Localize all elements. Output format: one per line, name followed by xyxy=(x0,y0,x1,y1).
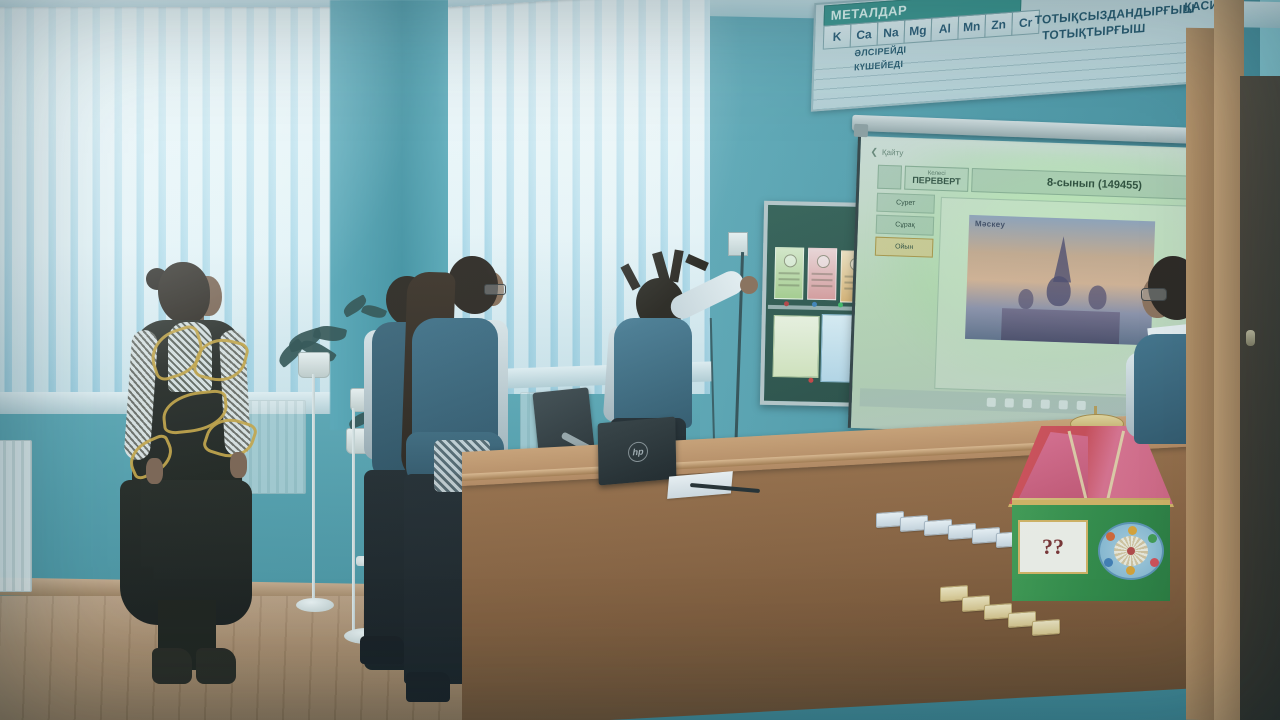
classroom-photo: МЕТАЛДАР K Ca Na Mg Al Mn Zn Cr ТОТЫҚСЫЗ… xyxy=(0,0,1280,720)
boot-right xyxy=(196,648,236,684)
hp-logo-icon: hp xyxy=(628,441,648,463)
certificate-green xyxy=(774,247,804,300)
element-cell: Mn xyxy=(957,14,986,40)
door-handle[interactable] xyxy=(1246,330,1255,346)
projector-screen-end-cap xyxy=(854,124,868,138)
question-mark-card: ?? xyxy=(1018,520,1088,574)
element-cell: Na xyxy=(877,20,906,46)
hp-laptop[interactable]: hp xyxy=(598,417,677,486)
glasses-icon xyxy=(1141,288,1167,301)
hand-left xyxy=(146,458,163,484)
flip-button[interactable]: Келесі ПЕРЕВЕРТ xyxy=(904,166,969,192)
projected-image: Мәскеу xyxy=(965,215,1155,345)
info-sheet-cream xyxy=(772,315,819,378)
vest xyxy=(614,318,692,428)
grid-icon[interactable] xyxy=(877,165,902,190)
projection-side-menu: Сурет Сұрақ Ойын xyxy=(875,193,935,261)
wall-light-switch[interactable] xyxy=(728,232,748,256)
head xyxy=(158,262,210,324)
flip-button-label: ПЕРЕВЕРТ xyxy=(912,176,961,187)
projected-image-caption: Мәскеу xyxy=(975,219,1005,229)
side-menu-item[interactable]: Сурет xyxy=(876,193,935,214)
seal-icon xyxy=(817,255,830,268)
element-cell: K xyxy=(823,24,852,50)
blind-rail-left[interactable] xyxy=(0,0,340,7)
radiator-left xyxy=(0,440,32,592)
certificate-red xyxy=(807,248,837,301)
cathedral-base xyxy=(1001,308,1120,344)
shoe xyxy=(406,672,450,702)
wheel-hub xyxy=(1127,547,1135,555)
projection-back-label[interactable]: Қайту xyxy=(882,147,904,157)
hand-right xyxy=(230,452,247,478)
cathedral-dome xyxy=(1018,289,1034,310)
element-cell: Mg xyxy=(904,18,933,44)
glasses-icon xyxy=(484,284,506,295)
element-cell: Al xyxy=(930,16,959,42)
seal-icon xyxy=(784,254,797,267)
cathedral-dome xyxy=(1088,285,1107,310)
pin-icon xyxy=(812,302,817,307)
boot-left xyxy=(152,648,192,684)
side-menu-item-active[interactable]: Ойын xyxy=(875,237,934,258)
pin-icon xyxy=(838,302,843,307)
app-icon[interactable] xyxy=(986,397,995,406)
shoe xyxy=(360,636,404,664)
pin-icon xyxy=(784,301,789,306)
element-cell: Ca xyxy=(850,22,879,48)
back-arrow-icon[interactable]: ❮ xyxy=(870,146,878,157)
door-frame-inner xyxy=(1186,28,1216,720)
element-cell: Zn xyxy=(984,12,1013,38)
flip-button-sublabel: Келесі xyxy=(928,171,946,178)
answer-card[interactable] xyxy=(1032,619,1060,636)
side-menu-item[interactable]: Сұрақ xyxy=(876,215,935,236)
cathedral-dome xyxy=(1046,276,1071,307)
classroom-door[interactable] xyxy=(1240,76,1280,720)
hand xyxy=(740,276,758,294)
pin-icon xyxy=(808,378,813,383)
wheel-emblem xyxy=(1098,522,1164,580)
